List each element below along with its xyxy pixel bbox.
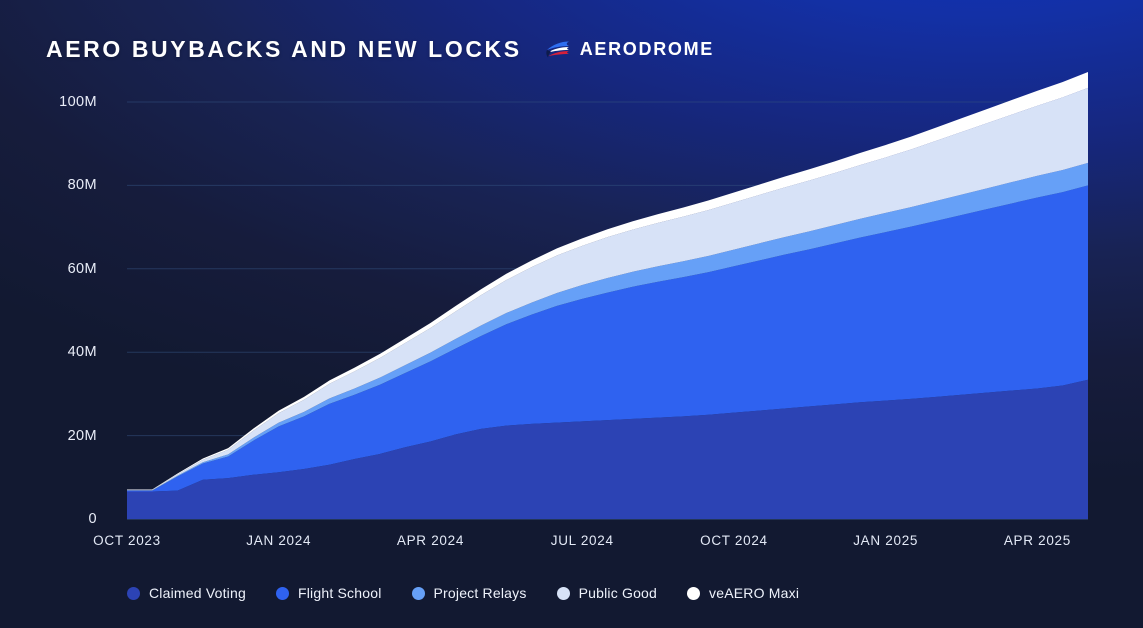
chart-plot-area: 020M40M60M80M100M OCT 2023JAN 2024APR 20… [0, 0, 1143, 628]
y-axis-tick-label: 40M [17, 344, 97, 360]
x-axis-tick-label: JUL 2024 [551, 533, 614, 548]
x-axis-tick-label: OCT 2023 [93, 533, 161, 548]
legend-item-label: Project Relays [434, 585, 527, 601]
area-series-group [127, 72, 1088, 519]
y-axis-tick-label: 100M [17, 94, 97, 110]
legend-item[interactable]: veAERO Maxi [687, 585, 799, 601]
y-axis-tick-label: 0 [17, 511, 97, 527]
chart-screenshot: AERO BUYBACKS AND NEW LOCKS AERODROME 02… [0, 0, 1143, 628]
x-axis-tick-label: APR 2024 [397, 533, 464, 548]
legend-item-label: Claimed Voting [149, 585, 246, 601]
legend-color-swatch-icon [412, 587, 425, 600]
legend-color-swatch-icon [687, 587, 700, 600]
legend-color-swatch-icon [276, 587, 289, 600]
y-axis-tick-label: 20M [17, 428, 97, 444]
y-axis-tick-label: 60M [17, 261, 97, 277]
legend-item-label: veAERO Maxi [709, 585, 799, 601]
legend-item[interactable]: Public Good [557, 585, 657, 601]
chart-legend: Claimed VotingFlight SchoolProject Relay… [127, 585, 829, 601]
legend-color-swatch-icon [557, 587, 570, 600]
legend-item-label: Flight School [298, 585, 382, 601]
x-axis-tick-label: APR 2025 [1004, 533, 1071, 548]
legend-item-label: Public Good [579, 585, 657, 601]
x-axis-tick-label: JAN 2024 [246, 533, 311, 548]
y-axis-tick-label: 80M [17, 177, 97, 193]
x-axis-tick-label: OCT 2024 [700, 533, 768, 548]
x-axis-tick-label: JAN 2025 [853, 533, 918, 548]
legend-item[interactable]: Project Relays [412, 585, 527, 601]
legend-item[interactable]: Flight School [276, 585, 382, 601]
legend-color-swatch-icon [127, 587, 140, 600]
legend-item[interactable]: Claimed Voting [127, 585, 246, 601]
